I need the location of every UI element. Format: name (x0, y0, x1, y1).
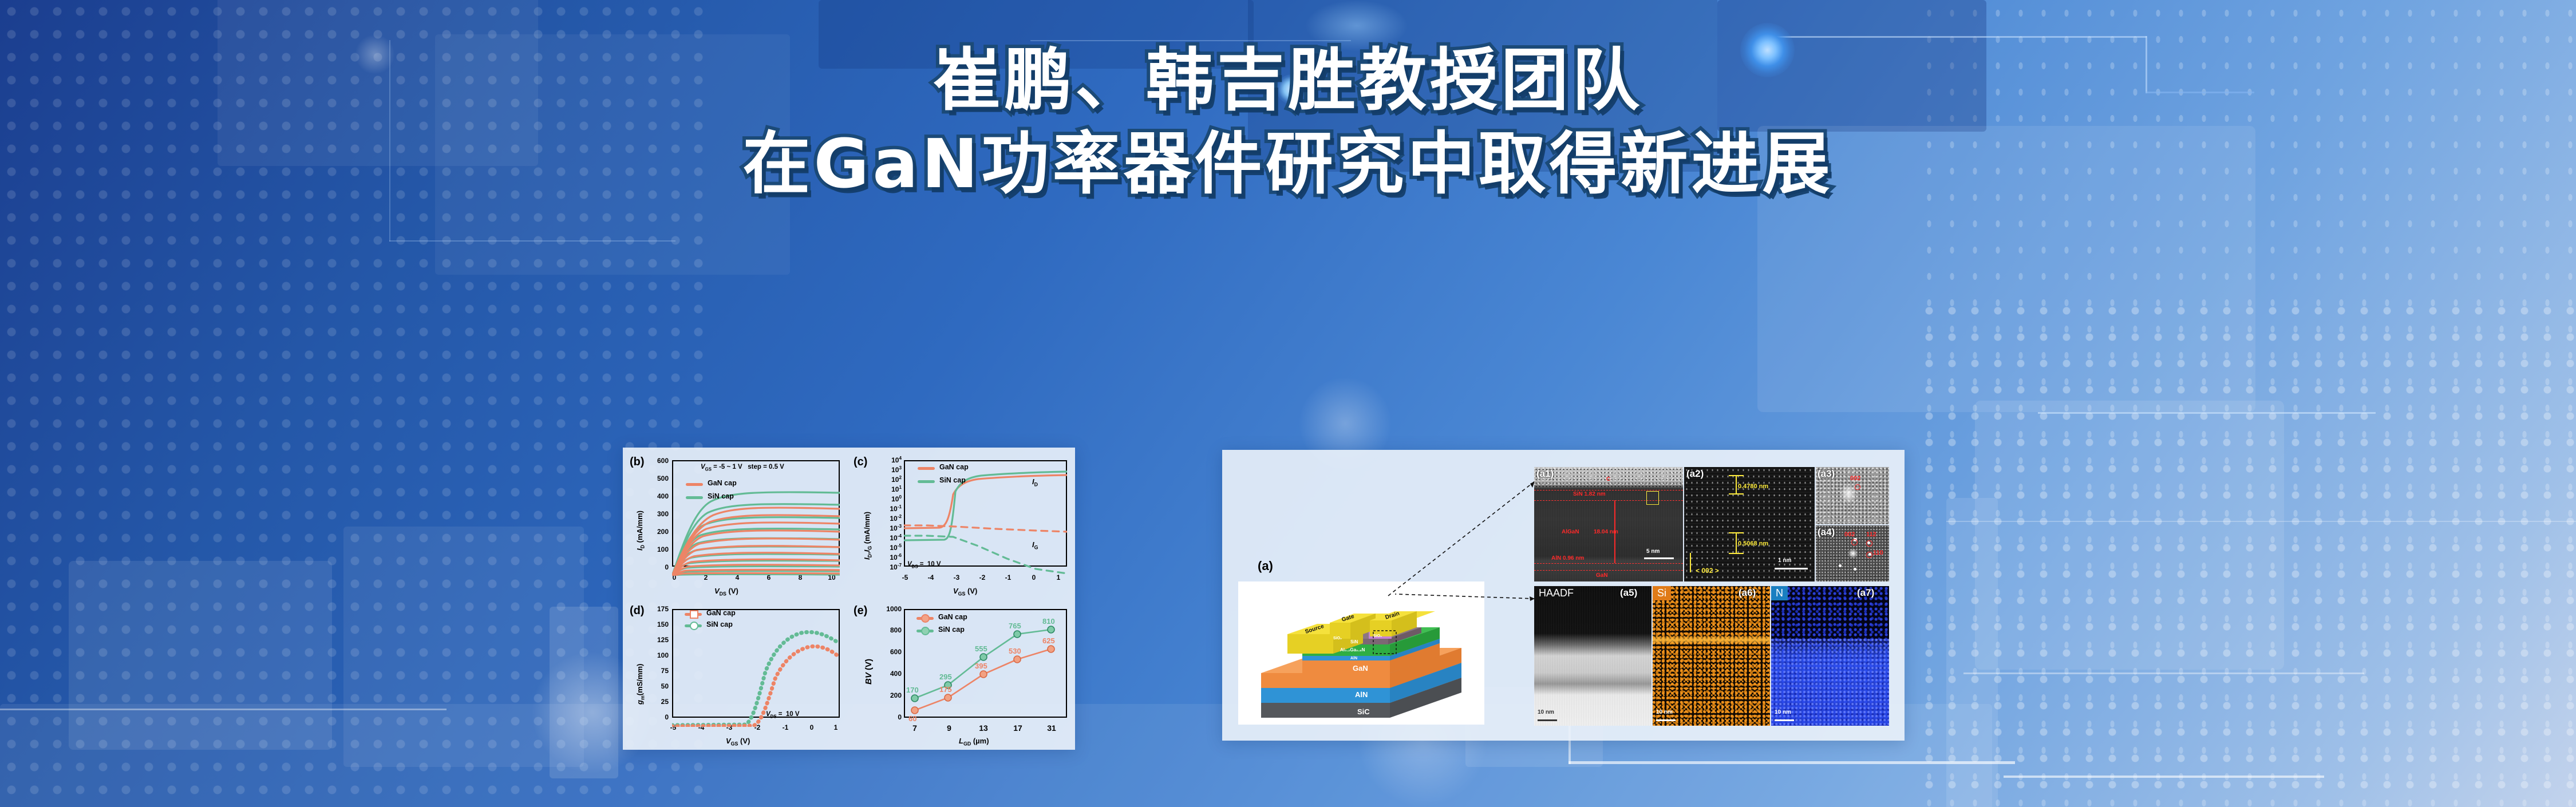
ytick-b-100: 100 (643, 545, 669, 553)
plot-c-curves (904, 460, 1067, 576)
eds-a5-scale-text: 10 nm (1538, 709, 1554, 715)
decorative-line-1 (1769, 36, 2147, 38)
title-line-1: 崔鹏、韩吉胜教授团队 (0, 46, 2576, 114)
panel-tag-b: (b) (630, 456, 645, 469)
banner-root: 崔鹏、韩吉胜教授团队 在GaN功率器件研究中取得新进展 (b) VGS = -5… (0, 0, 2576, 807)
decorative-line-5 (1568, 761, 2015, 764)
tem-a4-spot-002: 002 (1844, 531, 1855, 538)
decorative-line-4 (389, 240, 675, 242)
ytick-b-0: 0 (643, 563, 669, 571)
ytick-e-400: 400 (874, 670, 902, 678)
eds-label-n: N (1771, 586, 1788, 600)
title-line-2: 在GaN功率器件研究中取得新进展 (0, 129, 2576, 198)
xlabel-c: VGS (V) (953, 587, 977, 597)
layer-label-sio2-left: SiO₂ (1333, 636, 1342, 640)
eds-image-a5: HAADF (a5) 10 nm (1534, 586, 1652, 726)
ytick-c-7: 10-2 (872, 514, 902, 523)
layer-label-algan: Al₀.₂Ga₀.₈N (1340, 647, 1365, 652)
tem-a2-spacing-2: 0.5068 nm (1738, 540, 1768, 547)
tem-a1-label-algan: AlGaN (1562, 529, 1579, 535)
eds-a6-scale-text: 10 nm (1656, 709, 1673, 715)
ytick-e-800: 800 (874, 626, 902, 634)
banner-title: 崔鹏、韩吉胜教授团队 在GaN功率器件研究中取得新进展 (0, 46, 2576, 199)
plot-panel-e[interactable]: (e) 1000 800 600 400 200 0 7 9 13 17 31 … (849, 599, 1075, 750)
tem-image-a3: (a3) 002 (1816, 467, 1889, 524)
ylabel-d: gm(mS/mm) (635, 664, 646, 705)
legend-label-b-sin: SiN cap (708, 492, 734, 500)
ytick-b-300: 300 (643, 510, 669, 518)
tem-a4-spot-110: 110 (1873, 549, 1883, 556)
eds-tag-a6: (a6) (1739, 587, 1756, 599)
eds-a5-scale-bar (1538, 719, 1557, 721)
layer-label-sic: SiC (1357, 707, 1370, 716)
value-label-gan-175: 175 (939, 685, 952, 694)
ytick-c-10: 10-5 (872, 543, 902, 552)
plot-e-series: 170 295 555 765 810 60 175 395 530 625 (904, 609, 1067, 727)
tem-tag-a2: (a2) (1686, 468, 1704, 480)
legend-label-c-gan: GaN cap (939, 463, 969, 471)
ytick-c-4: 101 (874, 485, 902, 493)
tem-a1-label-c: C (1606, 476, 1610, 482)
eds-a7-scale-text: 10 nm (1775, 709, 1791, 715)
tem-a1-scale-bar (1644, 557, 1674, 559)
plot-grid: (b) VGS = -5 ~ 1 V step = 0.5 V 600 500 … (623, 448, 1075, 750)
tem-a1-scale-text: 5 nm (1646, 548, 1660, 555)
ytick-d-125: 125 (643, 636, 669, 644)
value-label-sin-295: 295 (939, 672, 952, 681)
tem-image-a4: (a4) 002 112 110 (1816, 525, 1889, 581)
zoom-connector-lines (1365, 481, 1537, 624)
ytick-b-500: 500 (643, 474, 669, 482)
ytick-e-200: 200 (874, 691, 902, 699)
tem-a2-direction: < 002 > (1696, 567, 1719, 575)
ytick-c-11: 10-6 (872, 553, 902, 561)
panel-tag-c: (c) (854, 456, 867, 469)
ytick-e-0: 0 (874, 713, 902, 721)
eds-image-a6: Si (a6) 10 nm (1653, 586, 1770, 726)
tem-tag-a3: (a3) (1818, 468, 1835, 480)
tem-a1-label-thickness: 18.04 nm (1594, 529, 1618, 535)
eds-panel-row[interactable]: HAADF (a5) 10 nm Si (a6) 10 nm N (a7) (1534, 586, 1889, 726)
legend-label-e-sin: SiN cap (938, 626, 965, 634)
tem-a1-dash-1 (1534, 490, 1683, 490)
legend-label-d-gan: GaN cap (706, 609, 736, 617)
tem-a4-spot-112: 112 (1866, 531, 1876, 538)
tem-image-a2: (a2) 0.4780 nm 0.5068 nm < 002 > 1 nm (1684, 467, 1815, 581)
tem-a1-label-sin: SiN 1.82 nm (1573, 491, 1606, 497)
ytick-d-150: 150 (643, 620, 669, 628)
ytick-e-600: 600 (874, 648, 902, 656)
plot-panel-c[interactable]: (c) 104 103 102 101 100 10-1 10-2 10-3 1… (849, 448, 1075, 599)
ytick-c-3: 102 (874, 475, 902, 484)
ytick-b-200: 200 (643, 528, 669, 536)
ytick-d-50: 50 (643, 682, 669, 690)
tem-a2-axis-arrow (1690, 553, 1691, 572)
tem-a1-dash-4 (1534, 570, 1683, 571)
decorative-line-6 (1963, 672, 2364, 674)
decorative-line-10 (0, 709, 447, 710)
value-label-gan-530: 530 (1009, 647, 1021, 655)
tem-a3-spot-marker (1855, 484, 1860, 490)
legend-label-e-gan: GaN cap (938, 613, 967, 621)
plot-d-curves (672, 609, 839, 727)
panel-tag-d: (d) (630, 604, 645, 618)
value-label-gan-60: 60 (908, 714, 916, 723)
layer-label-gan: GaN (1353, 664, 1368, 672)
ytick-d-25: 25 (643, 698, 669, 706)
tem-a1-dash-3 (1534, 563, 1683, 564)
value-label-sin-765: 765 (1009, 622, 1021, 630)
ytick-e-1000: 1000 (874, 605, 902, 613)
ytick-c-2: 103 (874, 465, 902, 474)
figure-card-right[interactable]: (a) (1222, 450, 1905, 741)
ytick-c-8: 10-3 (872, 524, 902, 532)
decorative-line-8 (2038, 412, 2376, 414)
layer-label-aln-thin: AlN (1350, 656, 1357, 660)
ytick-c-12: 10-7 (872, 563, 902, 571)
ytick-d-75: 75 (643, 667, 669, 675)
ytick-d-175: 175 (643, 605, 669, 613)
value-label-sin-555: 555 (975, 644, 987, 653)
eds-image-a7: N (a7) 10 nm (1771, 586, 1889, 726)
xlabel-d: VGS (V) (726, 737, 750, 747)
eds-a6-scale-bar (1656, 719, 1676, 721)
ylabel-b: ID (mA/mm) (635, 511, 646, 551)
value-label-gan-625: 625 (1042, 636, 1055, 645)
figure-card-left[interactable]: (b) VGS = -5 ~ 1 V step = 0.5 V 600 500 … (623, 448, 1075, 750)
decorative-line-7 (2004, 776, 2324, 778)
panel-tag-e: (e) (854, 604, 867, 618)
ylabel-e: BV (V) (864, 659, 874, 685)
eds-label-haadf: HAADF (1534, 586, 1578, 600)
layer-label-aln: AlN (1355, 690, 1368, 699)
decorative-rect-g (1975, 401, 2284, 670)
tem-a2-scale-text: 1 nm (1778, 557, 1791, 564)
ylabel-c: ID,IG (mA/mm) (863, 512, 873, 560)
eds-a7-scale-bar (1775, 719, 1794, 721)
tem-tag-a1: (a1) (1536, 468, 1554, 480)
tem-a2-arrow-2 (1736, 532, 1737, 554)
tem-panel-row[interactable]: (a1) C SiN 1.82 nm AlGaN 18.04 nm AlN 0.… (1534, 467, 1889, 581)
legend-label-b-gan: GaN cap (708, 479, 737, 487)
tem-a2-arrow-1 (1736, 475, 1737, 495)
plot-panel-b[interactable]: (b) VGS = -5 ~ 1 V step = 0.5 V 600 500 … (623, 448, 849, 599)
legend-label-c-sin: SiN cap (939, 476, 966, 484)
ytick-c-6: 10-1 (872, 504, 902, 513)
layer-label-sin: SiN (1350, 639, 1358, 644)
tem-image-a1: (a1) C SiN 1.82 nm AlGaN 18.04 nm AlN 0.… (1534, 467, 1683, 581)
plot-panel-d[interactable]: (d) 175 150 125 100 75 50 25 0 -5 -4 -3 … (623, 599, 849, 750)
tem-a1-roi-box (1646, 491, 1659, 505)
ytick-c-1: 104 (874, 456, 902, 464)
tem-a1-dash-2 (1534, 500, 1683, 501)
ytick-c-5: 100 (874, 495, 902, 503)
ytick-b-600: 600 (643, 457, 669, 465)
ytick-d-0: 0 (643, 713, 669, 721)
eds-tag-a7: (a7) (1857, 587, 1874, 599)
value-label-sin-810: 810 (1042, 617, 1055, 626)
tem-a2-spacing-1: 0.4780 nm (1738, 483, 1768, 490)
tem-a3-spot-002: 002 (1850, 475, 1860, 482)
xlabel-e: LGD (µm) (959, 737, 989, 747)
value-label-sin-170: 170 (906, 686, 919, 694)
eds-tag-a5: (a5) (1620, 587, 1637, 599)
layer-label-sio2-right: SiO₂ (1373, 634, 1382, 638)
tem-a2-scale-bar (1775, 568, 1808, 569)
ytick-c-9: 10-4 (872, 533, 902, 542)
value-label-gan-395: 395 (975, 662, 987, 670)
legend-label-d-sin: SiN cap (706, 620, 733, 628)
plot-b-curves (672, 460, 840, 576)
ytick-d-100: 100 (643, 651, 669, 659)
tem-a1-label-aln: AlN 0.96 nm (1551, 555, 1584, 561)
eds-label-si: Si (1653, 586, 1671, 600)
panel-tag-a: (a) (1258, 559, 1273, 573)
tem-tag-a4: (a4) (1818, 527, 1835, 538)
ytick-b-400: 400 (643, 492, 669, 500)
xlabel-b: VDS (V) (714, 587, 738, 597)
decorative-line-9 (1946, 521, 2576, 522)
tem-a1-label-gan: GaN (1596, 572, 1608, 579)
